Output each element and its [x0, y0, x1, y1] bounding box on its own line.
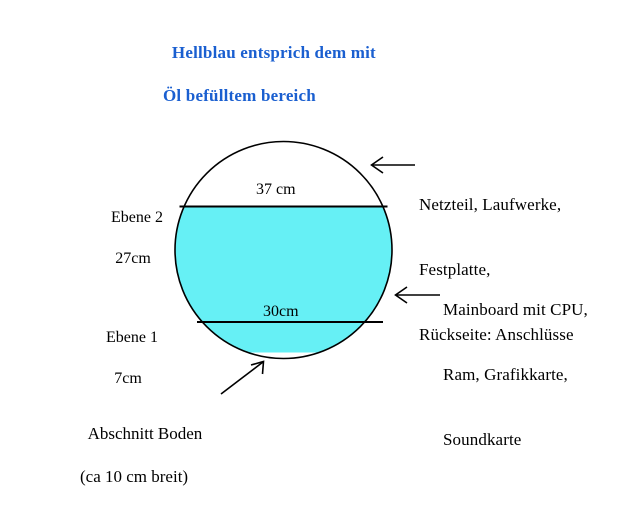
level-2-name: Ebene 2 [111, 209, 163, 226]
oil-fill [170, 207, 397, 353]
arrow-to-bottom-segment [221, 362, 264, 395]
upper-chord-dimension-label: 37 cm [256, 180, 296, 200]
annotation-top-line-1: Netzteil, Laufwerke, [419, 194, 574, 216]
level-2-height: 27cm [78, 249, 188, 269]
arrow-to-top-section [372, 157, 416, 173]
annotation-middle-line-2: Ram, Grafikkarte, [443, 364, 588, 386]
annotation-middle-line-1: Mainboard mit CPU, [443, 299, 588, 321]
caption-line-1: Abschnitt Boden [88, 424, 203, 443]
annotation-middle-section: Mainboard mit CPU, Ram, Grafikkarte, Sou… [443, 255, 588, 473]
level-label-ebene-1: Ebene 1 7cm [78, 308, 178, 410]
annotation-middle-line-3: Soundkarte [443, 429, 588, 451]
level-label-ebene-2: Ebene 2 27cm [78, 188, 188, 290]
caption-line-2: (ca 10 cm breit) [80, 466, 202, 488]
annotation-bottom-segment: Abschnitt Boden (ca 10 cm breit) [80, 401, 202, 510]
lower-chord-dimension-label: 30cm [263, 302, 299, 322]
legend-line-2: Öl befülltem bereich [163, 85, 376, 107]
legend-line-1: Hellblau entsprich dem mit [172, 43, 376, 62]
legend-text: Hellblau entsprich dem mit Öl befülltem … [163, 20, 376, 129]
level-1-height: 7cm [78, 369, 178, 389]
level-1-name: Ebene 1 [106, 329, 158, 346]
oil-fill-region [170, 207, 397, 353]
